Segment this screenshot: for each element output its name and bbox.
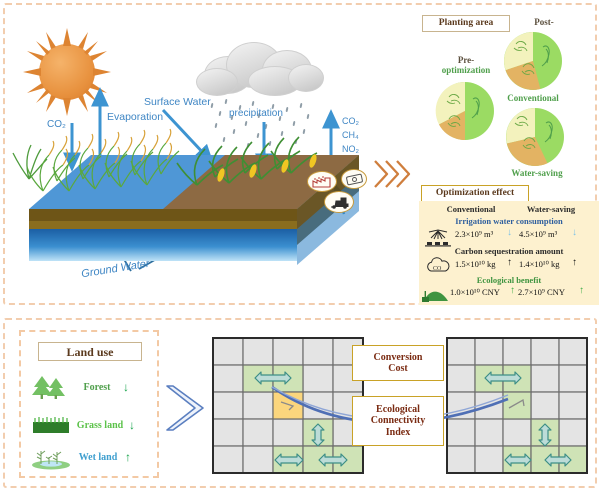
precipitation-label: precipitation	[229, 108, 283, 119]
legend-item-wet-land: Wet land ↑	[31, 444, 131, 470]
carbon-conventional-arrow: ↑	[507, 258, 512, 268]
conversion-cost-callout: Conversion Cost	[352, 345, 444, 381]
eci-line3: Index	[386, 427, 410, 438]
optimization-effect-panel: Optimization effect Conventional Water-s…	[419, 185, 599, 305]
pre-optimization-label-line1: Pre-	[458, 55, 474, 65]
irrigation-water-saving-arrow: ↓	[572, 228, 577, 238]
carbon-water-saving-arrow: ↑	[572, 258, 577, 268]
ecological-water-saving-value: 2.7×10⁹ CNY	[518, 287, 565, 297]
carbon-sequestration-label: Carbon sequestration amount	[419, 246, 599, 256]
legend-arrow-wet-land: ↑	[125, 450, 131, 465]
conversion-cost-line1: Conversion	[374, 352, 423, 363]
carbon-water-saving-value: 1.4×10¹⁰ kg	[519, 259, 560, 270]
conventional-label: Conventional	[499, 93, 567, 103]
top-panel: CO₂ Evaporation Surface Water precipitat…	[3, 3, 597, 305]
legend-arrow-grass-land: ↓	[129, 418, 135, 433]
column-header-conventional: Conventional	[435, 204, 507, 214]
svg-text:CO: CO	[433, 266, 442, 272]
planting-area-panel: Planting area Pre- optimization Post-	[419, 11, 599, 187]
ecological-connectivity-index-callout: Ecological Connectivity Index	[352, 396, 444, 446]
eci-line2: Connectivity	[371, 415, 425, 426]
irrigation-conventional-value: 2.3×10⁹ m³	[455, 229, 493, 239]
pre-optimization-label: Pre- optimization	[431, 55, 501, 75]
farm-field-block	[29, 151, 359, 286]
wetland-icon	[31, 444, 71, 470]
irrigation-water-consumption-label: Irrigation water consumption	[419, 216, 599, 226]
water-saving-pie	[505, 107, 565, 167]
pre-optimization-label-line2: optimization	[442, 65, 491, 75]
ecological-conventional-arrow: ↑	[510, 286, 515, 296]
pre-optimization-pie	[435, 81, 495, 141]
bottom-panel: Land use Forest ↓	[3, 318, 597, 488]
process-chevrons-icon	[373, 157, 413, 191]
ecological-conventional-value: 1.0×10¹⁰ CNY	[450, 287, 500, 298]
ecological-benefit-label: Ecological benefit	[419, 275, 599, 285]
legend-item-forest: Forest ↓	[31, 374, 129, 400]
legend-label-forest: Forest	[71, 382, 123, 393]
legend-label-grass-land: Grass land	[71, 420, 129, 431]
water-saving-label: Water-saving	[501, 168, 573, 178]
banknote-icon	[341, 169, 367, 189]
machinery-icon	[324, 191, 354, 213]
surface-water-label: Surface Water	[144, 96, 211, 108]
planting-area-title: Planting area	[422, 15, 510, 32]
optimization-effect-title: Optimization effect	[421, 185, 529, 202]
column-header-water-saving: Water-saving	[513, 204, 589, 214]
field-water-cycle-scene: CO₂ Evaporation Surface Water precipitat…	[11, 11, 411, 301]
land-use-title: Land use	[38, 342, 142, 361]
cloud-carbon-icon: CO	[425, 257, 451, 275]
sprinkler-icon	[425, 227, 451, 247]
conventional-pie	[503, 31, 563, 91]
irrigation-conventional-arrow: ↓	[507, 228, 512, 238]
land-use-legend: Land use Forest ↓	[19, 330, 159, 478]
factory-icon	[307, 171, 337, 192]
legend-label-wet-land: Wet land	[71, 452, 125, 463]
legend-arrow-forest: ↓	[123, 380, 129, 395]
grass-icon	[31, 414, 71, 436]
transition-chevron-icon	[163, 382, 209, 434]
green-hill-icon	[422, 286, 452, 302]
ecological-water-saving-arrow: ↑	[579, 286, 584, 296]
irrigation-water-saving-value: 4.5×10⁹ m³	[519, 229, 557, 239]
eci-line1: Ecological	[376, 404, 420, 415]
forest-icon	[31, 374, 71, 400]
post-label: Post-	[519, 17, 569, 27]
legend-item-grass-land: Grass land ↓	[31, 414, 135, 436]
conversion-cost-line2: Cost	[388, 363, 407, 374]
carbon-conventional-value: 1.5×10¹⁰ kg	[455, 259, 496, 270]
